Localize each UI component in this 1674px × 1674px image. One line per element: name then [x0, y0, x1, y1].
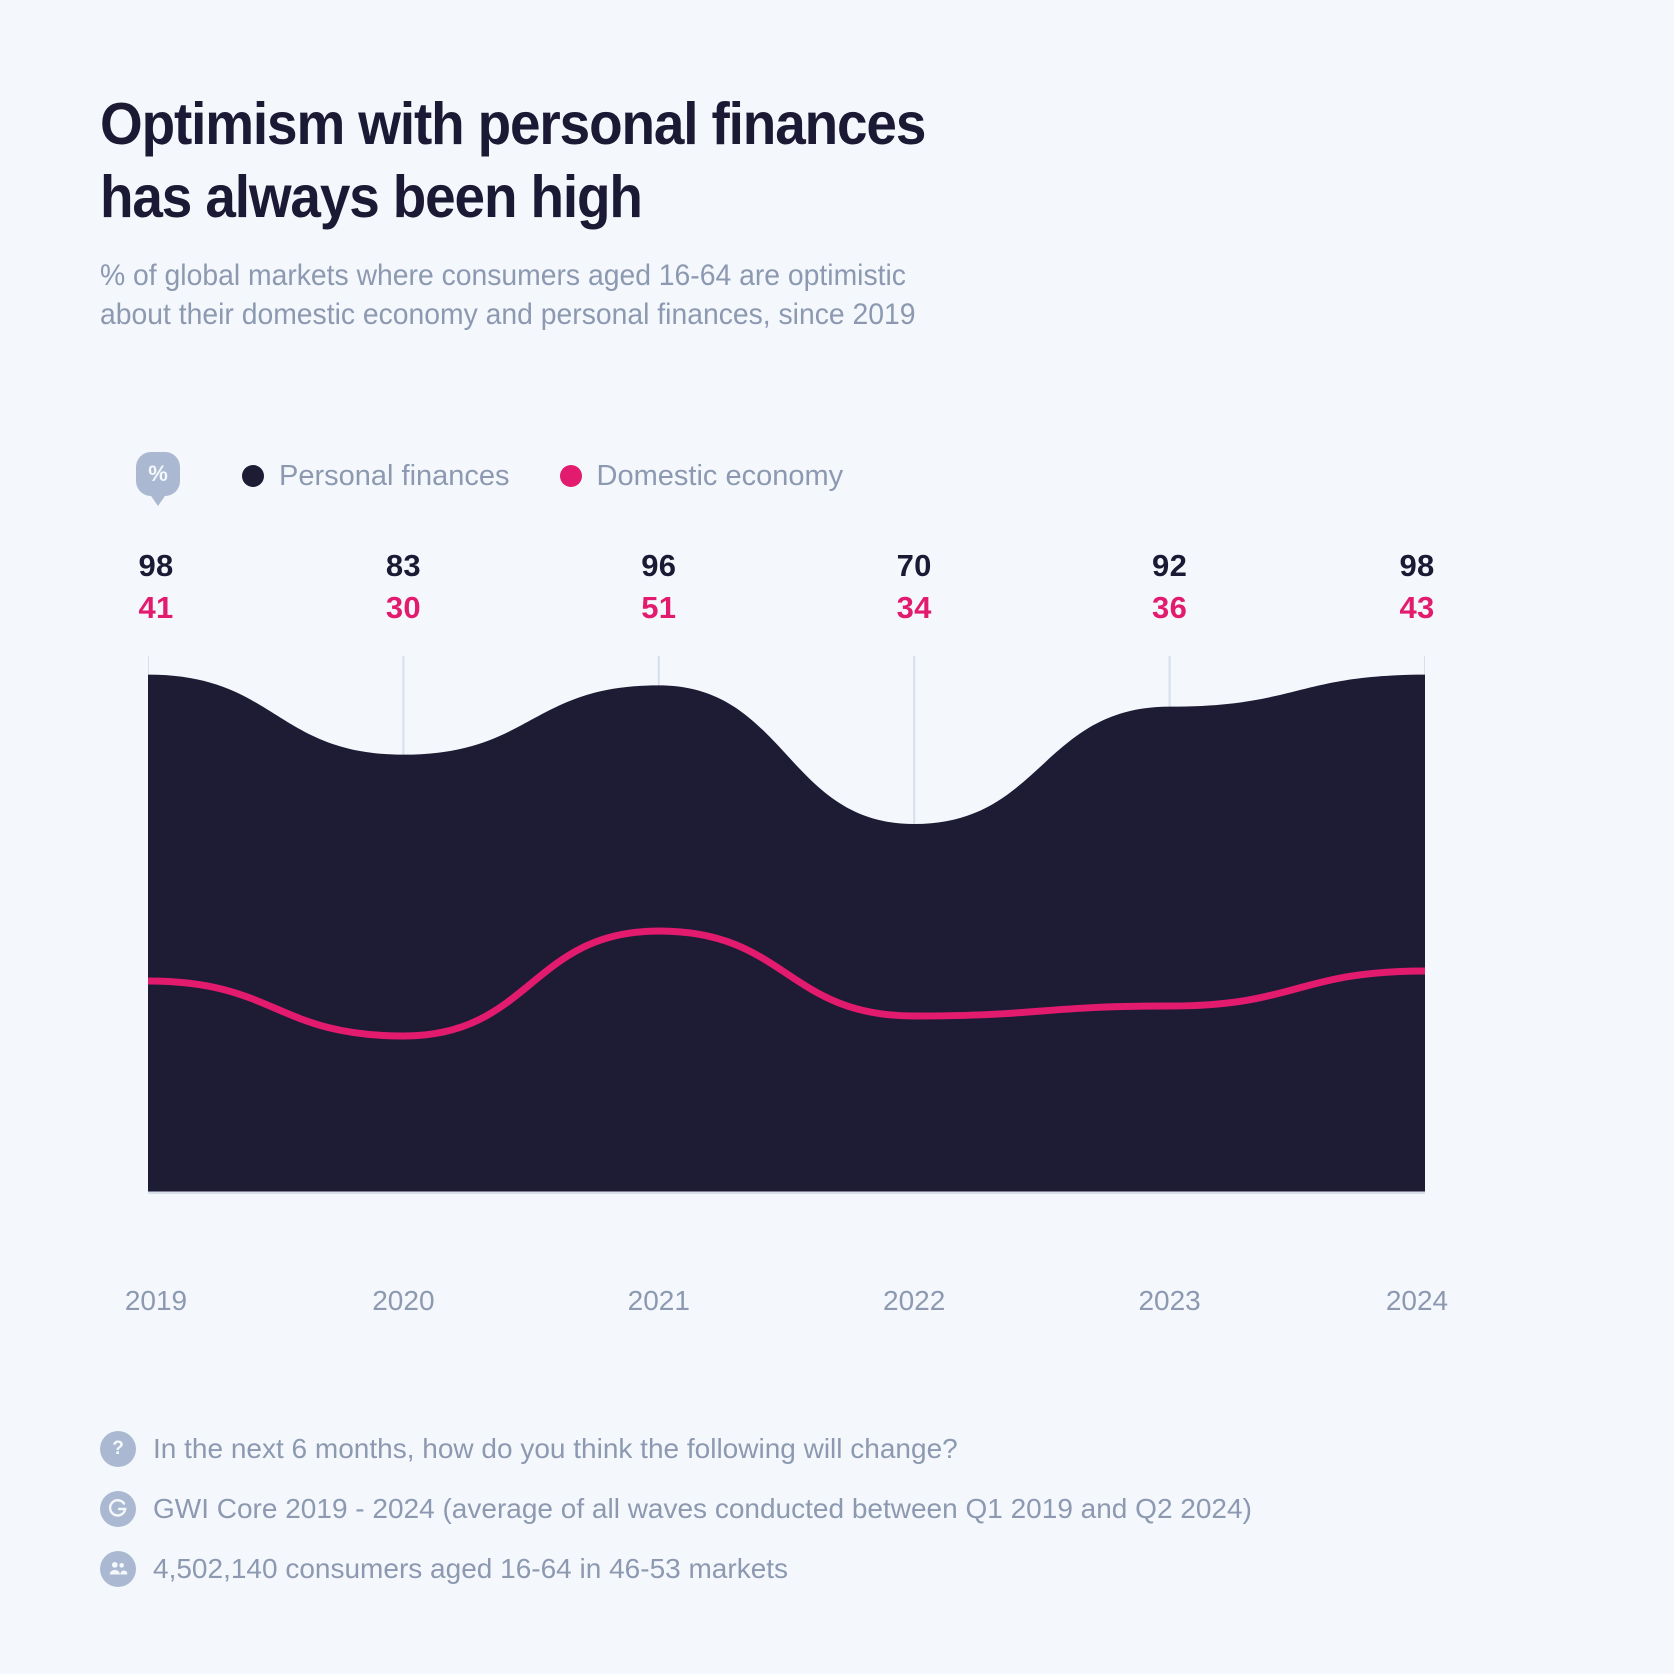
x-axis-tick: 2023 [1110, 1285, 1230, 1317]
legend-dot-icon [242, 465, 264, 487]
legend-label: Domestic economy [597, 460, 844, 493]
chart-canvas [148, 656, 1425, 1194]
footnote-text: GWI Core 2019 - 2024 (average of all wav… [153, 1493, 1252, 1525]
value-domestic-economy: 41 [96, 590, 216, 626]
legend-dot-icon [560, 465, 582, 487]
value-domestic-economy: 34 [854, 590, 974, 626]
people-glyph [107, 1558, 129, 1580]
page-subtitle: % of global markets where consumers aged… [100, 256, 1214, 334]
chart-legend: % Personal finances Domestic economy [136, 448, 893, 504]
x-axis-tick: 2021 [599, 1285, 719, 1317]
value-personal-finances: 70 [854, 548, 974, 584]
value-personal-finances: 96 [599, 548, 719, 584]
data-label-group: 7034 [854, 548, 974, 625]
legend-item-domestic-economy[interactable]: Domestic economy [560, 460, 844, 493]
gwi-logo-glyph [107, 1498, 129, 1520]
footnote-question: ? In the next 6 months, how do you think… [100, 1424, 1500, 1473]
value-personal-finances: 83 [343, 548, 463, 584]
infographic-page: Optimism with personal finances has alwa… [0, 0, 1674, 1674]
value-domestic-economy: 30 [343, 590, 463, 626]
x-axis-tick: 2024 [1357, 1285, 1477, 1317]
value-domestic-economy: 43 [1357, 590, 1477, 626]
x-axis-tick: 2022 [854, 1285, 974, 1317]
legend-label: Personal finances [279, 460, 510, 493]
data-label-group: 8330 [343, 548, 463, 625]
data-label-group: 9841 [96, 548, 216, 625]
value-personal-finances: 98 [1357, 548, 1477, 584]
x-axis-tick: 2019 [96, 1285, 216, 1317]
x-axis: 201920202021202220232024 [0, 1285, 1674, 1329]
value-domestic-economy: 51 [599, 590, 719, 626]
legend-items: Personal finances Domestic economy [242, 460, 893, 493]
data-label-group: 9651 [599, 548, 719, 625]
series-area-personal-finances [148, 675, 1425, 1194]
question-mark-icon: ? [100, 1431, 136, 1467]
percent-badge-label: % [148, 461, 168, 487]
data-label-row: 984183309651703492369843 [0, 548, 1674, 626]
value-personal-finances: 98 [96, 548, 216, 584]
footnote-source: GWI Core 2019 - 2024 (average of all wav… [100, 1484, 1500, 1533]
people-icon [100, 1551, 136, 1587]
area-chart [148, 656, 1425, 1194]
x-axis-tick: 2020 [343, 1285, 463, 1317]
footnote-text: 4,502,140 consumers aged 16-64 in 46-53 … [153, 1553, 788, 1585]
footnotes: ? In the next 6 months, how do you think… [100, 1424, 1500, 1604]
legend-item-personal-finances[interactable]: Personal finances [242, 460, 510, 493]
value-domestic-economy: 36 [1110, 590, 1230, 626]
footnote-text: In the next 6 months, how do you think t… [153, 1433, 958, 1465]
footnote-audience: 4,502,140 consumers aged 16-64 in 46-53 … [100, 1544, 1500, 1593]
data-label-group: 9236 [1110, 548, 1230, 625]
page-title: Optimism with personal finances has alwa… [100, 88, 1216, 234]
value-personal-finances: 92 [1110, 548, 1230, 584]
data-label-group: 9843 [1357, 548, 1477, 625]
gwi-logo-icon [100, 1491, 136, 1527]
percent-pin-icon: % [136, 452, 180, 496]
